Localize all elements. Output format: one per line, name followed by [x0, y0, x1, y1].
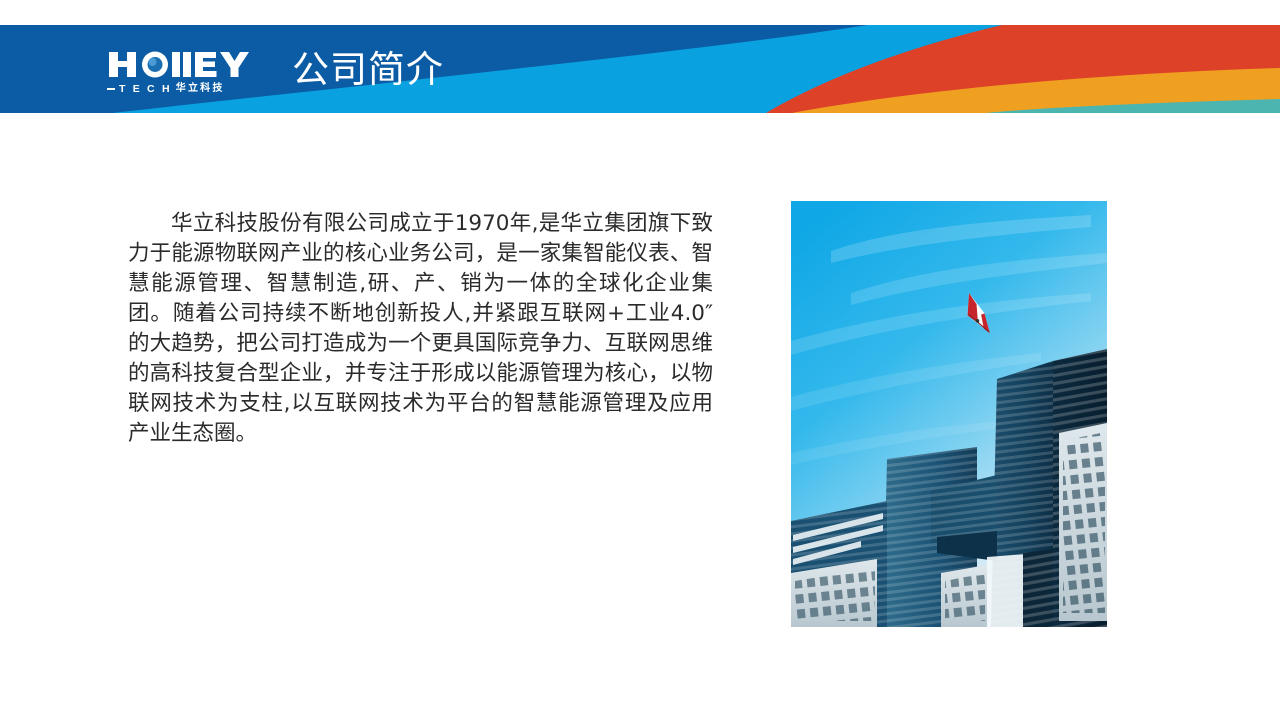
building-photo-graphic — [791, 201, 1107, 627]
holley-logo-subtitle: T E C H 华立科技 — [107, 83, 267, 95]
company-intro-paragraph: 华立科技股份有限公司成立于1970年,是华立集团旗下致力于能源物联网产业的核心业… — [128, 209, 713, 449]
photo-center-white-block — [941, 565, 987, 627]
slide-canvas: T E C H 华立科技 公司简介 华立科技股份有限公司成立于1970年,是华立… — [0, 0, 1280, 720]
holley-wordmark-icon — [107, 49, 267, 81]
building-photo — [791, 201, 1107, 627]
logo-sub-cn: 华立科技 — [176, 83, 225, 95]
page-title: 公司简介 — [292, 46, 444, 94]
photo-tower-center-leg2 — [1023, 549, 1053, 627]
holley-logo: T E C H 华立科技 — [107, 49, 267, 95]
photo-left-low-building — [791, 501, 887, 627]
photo-right-light-block — [1059, 423, 1107, 621]
logo-sub-en: T E C H — [119, 83, 172, 95]
logo-rule-left — [107, 88, 115, 90]
